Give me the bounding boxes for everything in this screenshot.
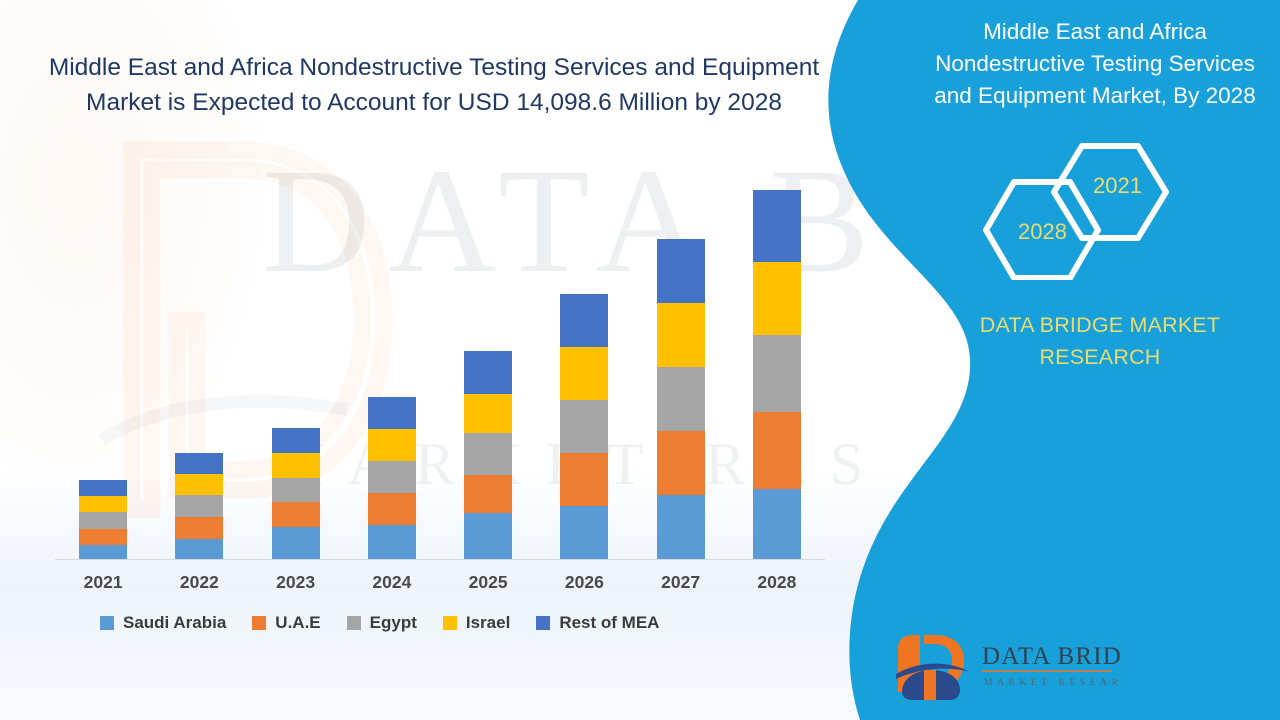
- x-axis-label: 2021: [55, 572, 151, 593]
- legend-swatch-icon: [443, 616, 457, 630]
- bar-column: [729, 190, 825, 559]
- brand-name: DATA BRIDGE MARKET RESEARCH: [935, 310, 1265, 374]
- bar-segment: [368, 397, 416, 429]
- bar-group: [55, 163, 825, 559]
- bar-column: [344, 397, 440, 559]
- legend-label: Israel: [466, 613, 510, 633]
- x-axis-label: 2026: [536, 572, 632, 593]
- bar-column: [151, 453, 247, 559]
- logo-tagline: MARKET RESEARCH: [984, 678, 1120, 688]
- bar-segment: [79, 512, 127, 529]
- bar-segment: [560, 506, 608, 559]
- data-bridge-logo: DATA BRIDGE MARKET RESEARCH: [890, 630, 1120, 700]
- bar-segment: [175, 474, 223, 495]
- bar-segment: [272, 453, 320, 478]
- bar-segment: [175, 453, 223, 474]
- legend-item[interactable]: Saudi Arabia: [100, 613, 226, 633]
- legend-label: Rest of MEA: [559, 613, 659, 633]
- bar-segment: [657, 367, 705, 431]
- bar-segment: [464, 513, 512, 559]
- bar-segment: [368, 493, 416, 525]
- x-axis-labels: 20212022202320242025202620272028: [55, 572, 825, 593]
- bar-segment: [464, 475, 512, 513]
- bar-segment: [753, 412, 801, 489]
- page-title: Middle East and Africa Nondestructive Te…: [34, 50, 834, 120]
- logo-b-mark-icon: [896, 635, 970, 700]
- bar-column: [536, 294, 632, 559]
- bar-segment: [79, 496, 127, 512]
- bar-segment: [464, 433, 512, 475]
- legend-label: Egypt: [370, 613, 417, 633]
- bar-column: [440, 351, 536, 559]
- bar-segment: [175, 517, 223, 539]
- x-axis-label: 2028: [729, 572, 825, 593]
- x-axis-label: 2027: [633, 572, 729, 593]
- bar-segment: [560, 294, 608, 347]
- bar-column: [55, 480, 151, 559]
- bar-segment: [753, 190, 801, 262]
- bar-segment: [272, 428, 320, 453]
- bar-segment: [272, 527, 320, 559]
- legend-item[interactable]: Rest of MEA: [536, 613, 659, 633]
- x-axis-label: 2022: [151, 572, 247, 593]
- bar-column: [248, 428, 344, 559]
- logo-wordmark: DATA BRIDGE: [982, 643, 1120, 670]
- bar-segment: [464, 351, 512, 394]
- x-axis-label: 2023: [248, 572, 344, 593]
- bar-segment: [560, 453, 608, 506]
- legend-swatch-icon: [347, 616, 361, 630]
- bar-segment: [464, 394, 512, 433]
- bar-segment: [79, 545, 127, 559]
- x-axis-line: [55, 559, 825, 560]
- legend-item[interactable]: U.A.E: [252, 613, 320, 633]
- hexagon-icons: [970, 140, 1230, 280]
- bar-chart: [55, 160, 825, 560]
- legend-swatch-icon: [536, 616, 550, 630]
- hexagon-badges: [970, 140, 1230, 280]
- x-axis-label: 2025: [440, 572, 536, 593]
- bar-segment: [79, 529, 127, 545]
- hexagon-2021-label: 2021: [1093, 173, 1142, 199]
- panel-content: Middle East and Africa Nondestructive Te…: [930, 0, 1280, 720]
- bar-segment: [272, 478, 320, 502]
- bar-segment: [753, 489, 801, 559]
- bar-segment: [368, 525, 416, 559]
- bar-segment: [657, 431, 705, 495]
- legend-item[interactable]: Israel: [443, 613, 510, 633]
- bar-segment: [368, 461, 416, 493]
- bar-segment: [175, 495, 223, 517]
- legend-item[interactable]: Egypt: [347, 613, 417, 633]
- legend-swatch-icon: [252, 616, 266, 630]
- panel-title: Middle East and Africa Nondestructive Te…: [925, 16, 1265, 112]
- bar-segment: [753, 335, 801, 412]
- infographic-root: DATA BRIDGE MARKET RESEARCH Middle East …: [0, 0, 1280, 720]
- bar-segment: [657, 239, 705, 303]
- bar-segment: [560, 347, 608, 400]
- bar-segment: [368, 429, 416, 461]
- hexagon-2028-label: 2028: [1018, 219, 1067, 245]
- legend-label: U.A.E: [275, 613, 320, 633]
- bar-segment: [753, 262, 801, 335]
- bar-segment: [79, 480, 127, 496]
- legend-swatch-icon: [100, 616, 114, 630]
- bar-segment: [657, 303, 705, 367]
- bar-segment: [657, 495, 705, 559]
- chart-legend: Saudi ArabiaU.A.EEgyptIsraelRest of MEA: [100, 613, 800, 633]
- x-axis-label: 2024: [344, 572, 440, 593]
- legend-label: Saudi Arabia: [123, 613, 226, 633]
- bar-segment: [175, 539, 223, 559]
- bar-segment: [560, 400, 608, 453]
- bar-column: [633, 239, 729, 559]
- bar-segment: [272, 502, 320, 527]
